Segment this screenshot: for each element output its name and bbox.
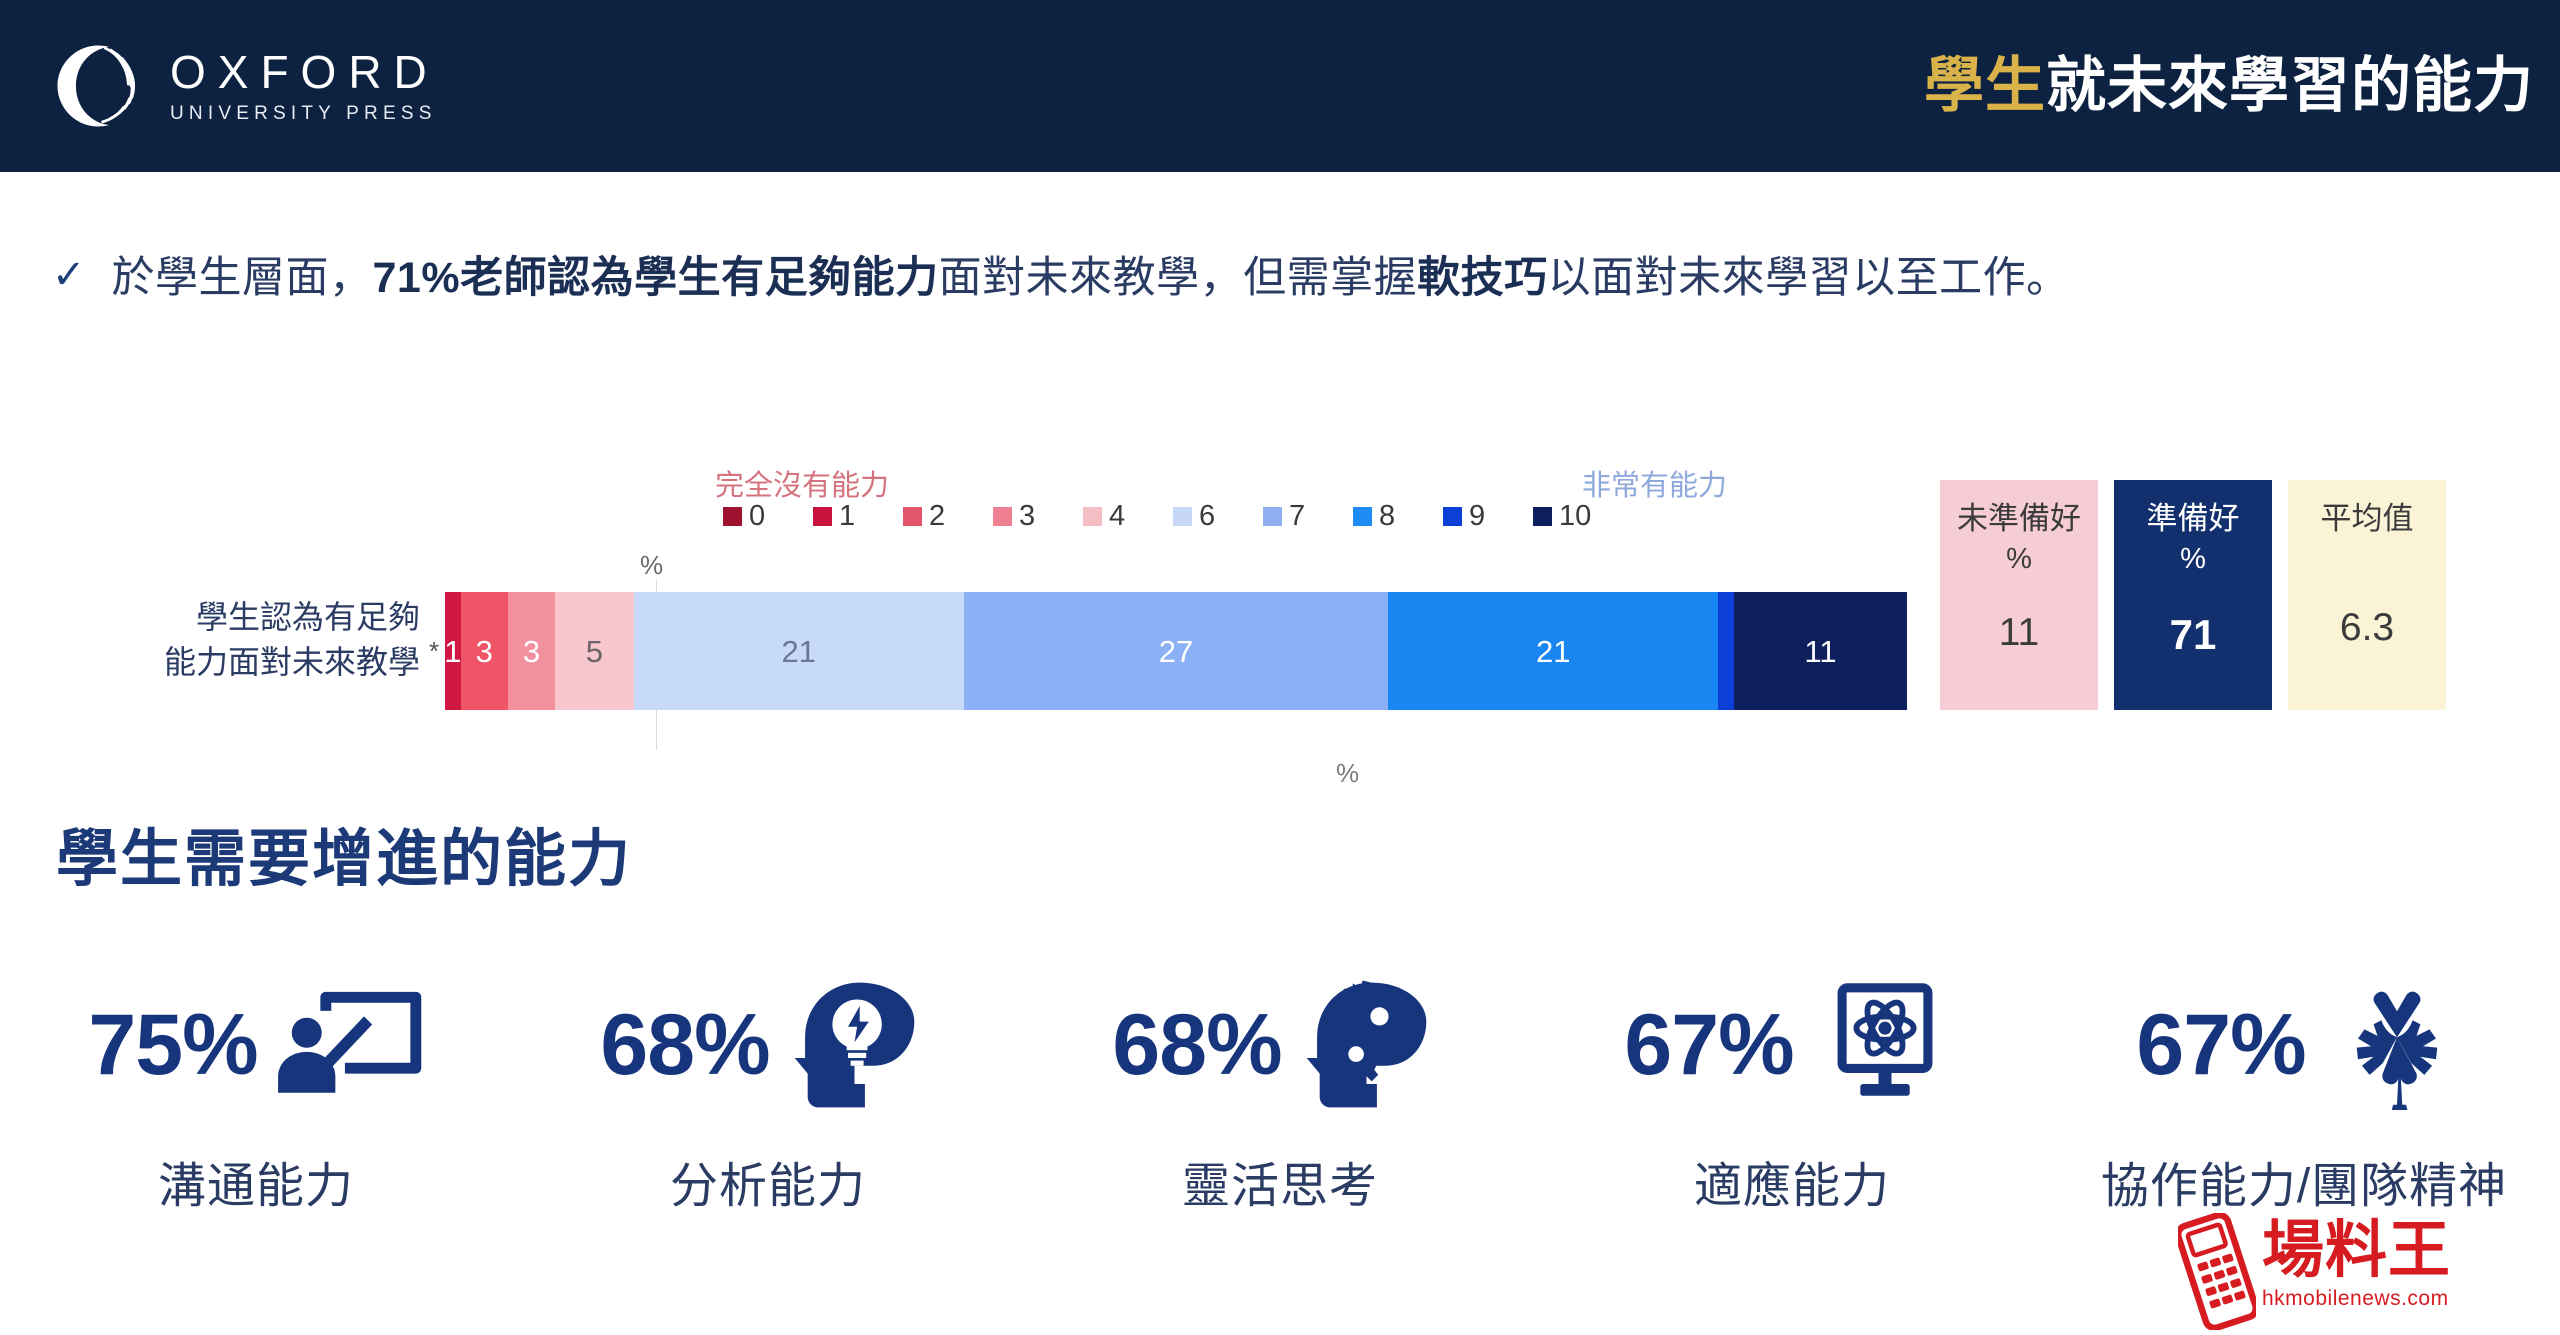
- skill-percentage: 67%: [2136, 1002, 2305, 1088]
- summary-box-value: 6.3: [2340, 606, 2394, 650]
- bullet-part-2: 面對未來教學，但需掌握: [939, 254, 1418, 302]
- legend-label: 9: [1469, 502, 1485, 531]
- skill-item: 67%適應能力: [1536, 970, 2048, 1216]
- skill-item: 68%分析能力: [512, 970, 1024, 1216]
- legend-swatch: [1533, 507, 1552, 526]
- skill-item: 68%靈活思考: [1024, 970, 1536, 1216]
- legend-label: 4: [1109, 502, 1125, 531]
- bullet-part-3: 以面對未來學習以至工作。: [1548, 254, 2070, 302]
- skill-item: 67%協作能力/團隊精神: [2048, 970, 2560, 1216]
- chart-row-label: 學生認為有足夠 能力面對未來教學: [118, 595, 420, 686]
- watermark-text: 場料王 hkmobilenews.com: [2262, 1220, 2451, 1316]
- legend-item: 3: [993, 502, 1083, 531]
- bar-segment-1: 1: [445, 592, 461, 710]
- chart-legend: 01234678910: [723, 502, 1623, 531]
- watermark: 場料王 hkmobilenews.com: [2178, 1208, 2538, 1328]
- section-heading: 學生需要增進的能力: [56, 808, 632, 898]
- legend-swatch: [813, 507, 832, 526]
- head-gears-icon: [1298, 980, 1448, 1110]
- legend-label: 2: [929, 502, 945, 531]
- bullet-bold-2: 軟技巧: [1417, 254, 1548, 302]
- summary-box-value: 11: [1999, 611, 2040, 655]
- summary-box-unit: %: [2180, 538, 2206, 582]
- summary-box-title: 未準備好: [1957, 500, 2081, 538]
- skill-label: 協作能力/團隊精神: [2101, 1146, 2507, 1216]
- legend-swatch: [1263, 507, 1282, 526]
- head-lightbulb-icon: [786, 980, 936, 1110]
- skill-figure: 75%: [88, 970, 423, 1120]
- legend-swatch: [1353, 507, 1372, 526]
- star-marker: *: [429, 636, 439, 667]
- axis-note-top: %: [640, 550, 663, 581]
- legend-label: 7: [1289, 502, 1305, 531]
- watermark-url: hkmobilenews.com: [2262, 1282, 2451, 1316]
- chart-row-label-line2: 能力面對未來教學: [118, 640, 420, 685]
- page-title: 學生就未來學習的能力: [1924, 56, 2534, 116]
- skill-figure: 67%: [2136, 970, 2471, 1120]
- oxford-rope-circle-logo: [52, 40, 144, 132]
- page-title-highlight: 學生: [1924, 52, 2046, 119]
- check-icon: ✓: [52, 248, 86, 302]
- slide-header: OXFORD UNIVERSITY PRESS 學生就未來學習的能力: [0, 0, 2560, 172]
- slide: OXFORD UNIVERSITY PRESS 學生就未來學習的能力 ✓ 於學生…: [0, 0, 2560, 1335]
- skill-item: 75%溝通能力: [0, 970, 512, 1216]
- legend-swatch: [903, 507, 922, 526]
- summary-box-title: 準備好: [2147, 500, 2240, 538]
- skill-figure: 67%: [1624, 970, 1959, 1120]
- legend-swatch: [993, 507, 1012, 526]
- skill-label: 適應能力: [1694, 1146, 1890, 1216]
- legend-label: 1: [839, 502, 855, 531]
- legend-swatch: [1083, 507, 1102, 526]
- skill-percentage: 68%: [1112, 1002, 1281, 1088]
- bar-segment-2: 3: [461, 592, 508, 710]
- brand-lockup: OXFORD UNIVERSITY PRESS: [52, 40, 439, 132]
- brand-name: OXFORD: [170, 49, 439, 95]
- mobile-phone-icon: [2178, 1213, 2256, 1323]
- presentation-person-icon: [274, 980, 424, 1110]
- monitor-atom-icon: [1810, 980, 1960, 1110]
- legend-item: 9: [1443, 502, 1533, 531]
- bar-segment-9: [1718, 592, 1734, 710]
- summary-box-value: 71: [2170, 611, 2217, 659]
- chart-anchor-high: 非常有能力: [1582, 462, 1727, 504]
- legend-item: 8: [1353, 502, 1443, 531]
- chart-anchor-low: 完全沒有能力: [715, 462, 889, 504]
- axis-note-bottom: %: [1336, 758, 1359, 789]
- bar-segment-8: 21: [1388, 592, 1718, 710]
- summary-box-title: 平均值: [2321, 500, 2414, 538]
- teamwork-hands-icon: [2322, 980, 2472, 1110]
- bar-segment-4: 5: [555, 592, 634, 710]
- legend-item: 1: [813, 502, 903, 531]
- stacked-bar: 133521272111: [445, 592, 1907, 710]
- legend-label: 8: [1379, 502, 1395, 531]
- skill-label: 靈活思考: [1182, 1146, 1378, 1216]
- stacked-bar-chart: 完全沒有能力 非常有能力 01234678910 % % 學生認為有足夠 能力面…: [0, 440, 2560, 800]
- legend-item: 4: [1083, 502, 1173, 531]
- bullet-part-1: 於學生層面，: [112, 254, 373, 302]
- brand-subtitle: UNIVERSITY PRESS: [170, 104, 439, 123]
- legend-item: 2: [903, 502, 993, 531]
- skill-figure: 68%: [600, 970, 935, 1120]
- legend-label: 3: [1019, 502, 1035, 531]
- skill-percentage: 67%: [1624, 1002, 1793, 1088]
- bar-segment-7: 27: [964, 592, 1388, 710]
- summary-box: 準備好%71: [2114, 480, 2272, 710]
- skill-percentage: 75%: [88, 1002, 257, 1088]
- bar-segment-6: 21: [634, 592, 964, 710]
- legend-label: 6: [1199, 502, 1215, 531]
- summary-box: 未準備好%11: [1940, 480, 2098, 710]
- page-title-rest: 就未來學習的能力: [2046, 52, 2534, 119]
- skill-percentage: 68%: [600, 1002, 769, 1088]
- bar-segment-10: 11: [1734, 592, 1907, 710]
- bar-segment-3: 3: [508, 592, 555, 710]
- legend-label: 0: [749, 502, 765, 531]
- legend-item: 7: [1263, 502, 1353, 531]
- legend-swatch: [1173, 507, 1192, 526]
- skill-label: 溝通能力: [158, 1146, 354, 1216]
- brand-text: OXFORD UNIVERSITY PRESS: [170, 49, 439, 123]
- skills-list: 75%溝通能力68%分析能力68%靈活思考67%適應能力67%協作能力/團隊精神: [0, 970, 2560, 1216]
- legend-label: 10: [1559, 502, 1591, 531]
- bullet-row: ✓ 於學生層面，71%老師認為學生有足夠能力面對未來教學，但需掌握軟技巧以面對未…: [52, 248, 2522, 309]
- summary-boxes: 未準備好%11準備好%71平均值6.3: [1940, 480, 2446, 710]
- bullet-text: 於學生層面，71%老師認為學生有足夠能力面對未來教學，但需掌握軟技巧以面對未來學…: [112, 248, 2070, 309]
- summary-box-unit: %: [2006, 538, 2032, 582]
- legend-item: 0: [723, 502, 813, 531]
- legend-item: 10: [1533, 502, 1623, 531]
- skill-figure: 68%: [1112, 970, 1447, 1120]
- bullet-bold-1: 71%老師認為學生有足夠能力: [373, 254, 939, 302]
- legend-swatch: [1443, 507, 1462, 526]
- summary-box: 平均值6.3: [2288, 480, 2446, 710]
- watermark-title: 場料王: [2262, 1220, 2451, 1282]
- legend-swatch: [723, 507, 742, 526]
- skill-label: 分析能力: [670, 1146, 866, 1216]
- legend-item: 6: [1173, 502, 1263, 531]
- chart-row-label-line1: 學生認為有足夠: [118, 595, 420, 640]
